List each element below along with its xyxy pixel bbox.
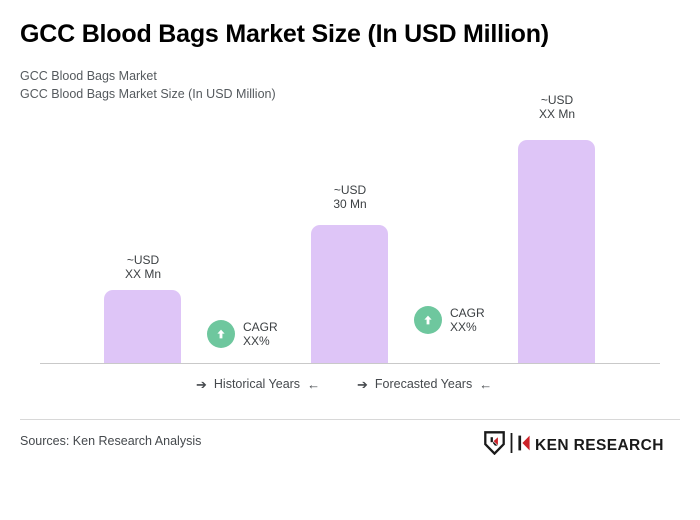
footer-divider	[20, 419, 680, 420]
cagr-badge-2	[414, 306, 442, 334]
period-label-forecasted-text: Forecasted Years	[375, 377, 472, 391]
bar-1[interactable]	[104, 290, 181, 364]
cagr-marker-2: CAGR XX%	[414, 306, 485, 334]
ken-research-logo: KEN RESEARCH	[484, 431, 664, 460]
arrow-left-icon: ←	[307, 378, 320, 391]
ken-research-shield-icon	[484, 431, 505, 460]
subtitle-line-1: GCC Blood Bags Market	[20, 67, 276, 85]
arrow-left-icon: ←	[479, 378, 492, 391]
cagr-marker-1: CAGR XX%	[207, 320, 278, 348]
arrow-right-icon: ➔	[357, 378, 368, 391]
logo-k-accent-icon	[518, 433, 531, 458]
infographic-canvas: GCC Blood Bags Market Size (In USD Milli…	[0, 0, 700, 520]
period-label-forecasted: ➔ Forecasted Years ←	[357, 377, 492, 391]
bar-group-1: ~USD XX Mn	[104, 90, 181, 364]
bar-group-2: ~USD 30 Mn	[311, 90, 388, 364]
chart-plot-area: ~USD XX Mn ~USD 30 Mn ~USD XX Mn CAGR XX…	[0, 90, 700, 365]
bar-group-3: ~USD XX Mn	[518, 90, 595, 364]
period-label-historical-text: Historical Years	[214, 377, 300, 391]
sources-note: Sources: Ken Research Analysis	[20, 434, 201, 448]
logo-wordmark: KEN RESEARCH	[535, 438, 664, 454]
bar-2[interactable]	[311, 225, 388, 364]
arrow-up-icon	[214, 327, 228, 341]
bar-value-label-2: ~USD 30 Mn	[290, 183, 410, 211]
page-title: GCC Blood Bags Market Size (In USD Milli…	[20, 18, 680, 50]
cagr-label-2: CAGR XX%	[450, 306, 485, 334]
bar-value-label-3: ~USD XX Mn	[497, 93, 617, 121]
arrow-up-icon	[421, 313, 435, 327]
cagr-label-1: CAGR XX%	[243, 320, 278, 348]
axis-baseline	[40, 363, 660, 364]
bar-3[interactable]	[518, 140, 595, 364]
period-axis-labels: ➔ Historical Years ← ➔ Forecasted Years …	[0, 377, 700, 399]
arrow-right-icon: ➔	[196, 378, 207, 391]
bar-value-label-1: ~USD XX Mn	[83, 253, 203, 281]
period-label-historical: ➔ Historical Years ←	[196, 377, 320, 391]
logo-divider-bar	[509, 432, 514, 459]
cagr-badge-1	[207, 320, 235, 348]
